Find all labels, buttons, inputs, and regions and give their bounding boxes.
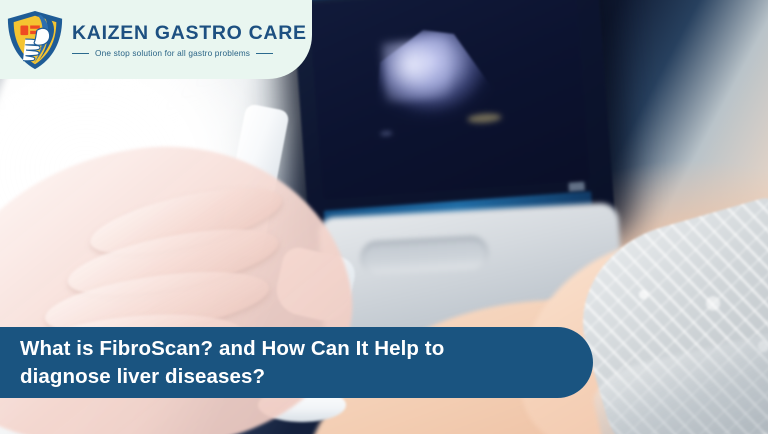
scan-speckle [380, 131, 392, 137]
monitor-screen [309, 0, 591, 200]
brand-tagline: One stop solution for all gastro problem… [95, 48, 250, 58]
console-probe-holder [360, 235, 490, 276]
featured-image-card: KAIZEN GASTRO CARE One stop solution for… [0, 0, 768, 434]
shield-liver-thumbs-up-logo-icon [4, 9, 66, 71]
article-title-line-1: What is FibroScan? and How Can It Help t… [20, 337, 444, 360]
monitor-control-nub [568, 182, 585, 192]
tagline-dash-left [72, 53, 89, 54]
tagline-dash-right [256, 53, 273, 54]
article-title-banner: What is FibroScan? and How Can It Help t… [0, 327, 593, 398]
brand-tagline-row: One stop solution for all gastro problem… [72, 48, 307, 58]
article-title-line-2: diagnose liver diseases? [20, 365, 265, 388]
brand-name: KAIZEN GASTRO CARE [72, 23, 307, 43]
article-title: What is FibroScan? and How Can It Help t… [20, 335, 444, 390]
ultrasound-scan-highlight [382, 38, 452, 103]
brand-text-block: KAIZEN GASTRO CARE One stop solution for… [72, 21, 307, 58]
brand-logo-pill[interactable]: KAIZEN GASTRO CARE One stop solution for… [0, 0, 312, 79]
